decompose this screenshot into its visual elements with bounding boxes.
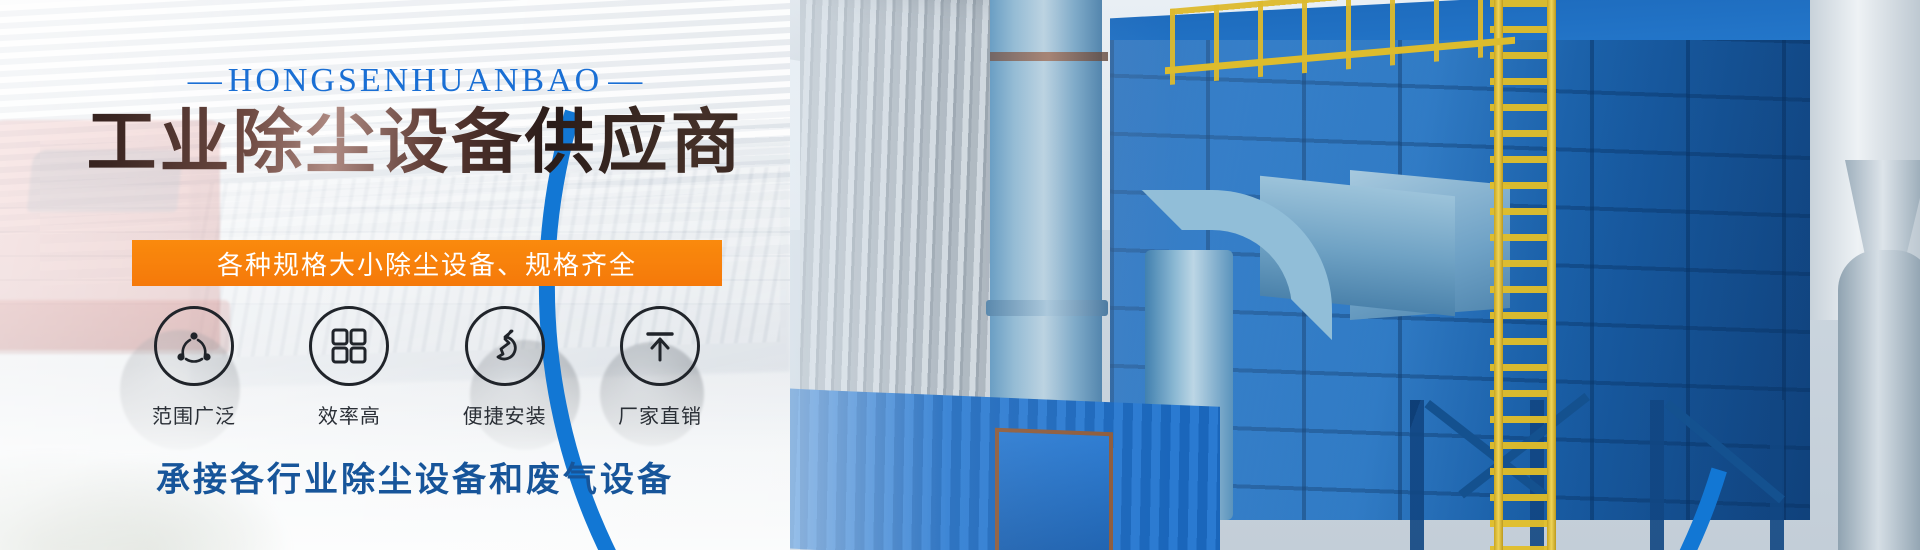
wrench-icon <box>465 306 545 386</box>
network-nodes-icon <box>154 306 234 386</box>
feature-label: 效率高 <box>287 400 411 429</box>
banner-tagline: 承接各行业除尘设备和废气设备 <box>0 452 830 501</box>
highlight-bar: 各种规格大小除尘设备、规格齐全 <box>132 240 722 286</box>
feature-list: 范围广泛 效率高 <box>132 306 722 429</box>
grid-squares-icon <box>309 306 389 386</box>
eyebrow-text: HONGSENHUANBAO <box>228 62 602 99</box>
feature-item-range[interactable]: 范围广泛 <box>132 306 256 429</box>
photo-edge-haze <box>790 0 1920 550</box>
feature-item-efficiency[interactable]: 效率高 <box>287 306 411 429</box>
highlight-bar-text: 各种规格大小除尘设备、规格齐全 <box>217 245 637 282</box>
feature-label: 范围广泛 <box>132 400 256 429</box>
feature-item-installation[interactable]: 便捷安装 <box>443 306 567 429</box>
feature-label: 厂家直销 <box>598 400 722 429</box>
eyebrow-dash-right: — <box>602 62 648 99</box>
eyebrow-dash-left: — <box>182 62 228 99</box>
up-arrow-icon <box>620 306 700 386</box>
equipment-photo <box>790 0 1920 550</box>
feature-label: 便捷安装 <box>443 400 567 429</box>
brand-eyebrow: —HONGSENHUANBAO— <box>0 62 830 100</box>
page-title: 工业除尘设备供应商 <box>0 103 830 181</box>
hero-banner: —HONGSENHUANBAO— 工业除尘设备供应商 各种规格大小除尘设备、规格… <box>0 0 1920 550</box>
banner-content: —HONGSENHUANBAO— 工业除尘设备供应商 各种规格大小除尘设备、规格… <box>0 0 830 550</box>
feature-item-direct-sales[interactable]: 厂家直销 <box>598 306 722 429</box>
